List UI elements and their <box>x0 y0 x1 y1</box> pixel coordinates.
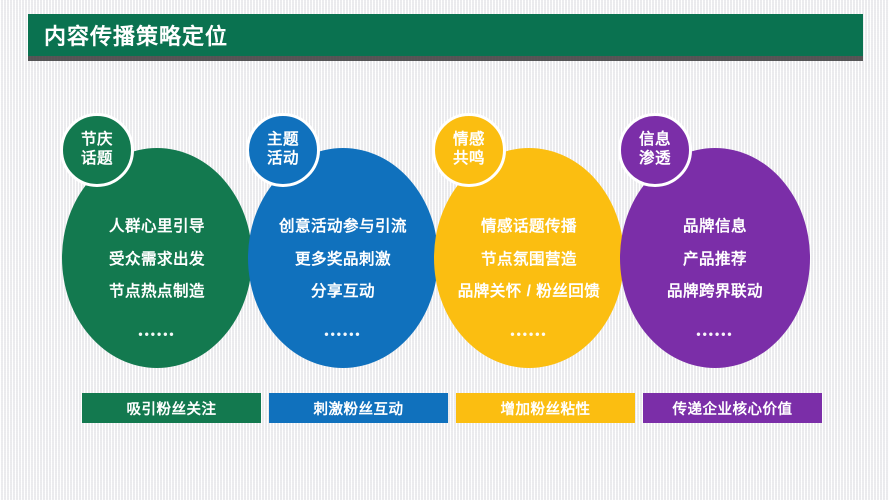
title-bar: 内容传播策略定位 <box>28 14 863 56</box>
big-ellipse-line: 人群心里引导 <box>109 219 205 235</box>
big-ellipse-line: 节点热点制造 <box>109 284 205 300</box>
outcome-bar-attract-fans[interactable]: 吸引粉丝关注 <box>82 393 261 423</box>
badge-label-line: 渗透 <box>639 150 671 169</box>
big-ellipse-line: 分享互动 <box>311 284 375 300</box>
title-bar-shadow <box>28 56 863 61</box>
page-title: 内容传播策略定位 <box>44 19 228 51</box>
big-ellipse-line: 品牌跨界联动 <box>667 284 763 300</box>
badge-circle-festival-topic[interactable]: 节庆 话题 <box>60 113 134 187</box>
outcome-bar-increase-stickiness[interactable]: 增加粉丝粘性 <box>456 393 635 423</box>
badge-circle-information-penetration[interactable]: 信息 渗透 <box>618 113 692 187</box>
big-ellipse-line: 情感话题传播 <box>481 219 577 235</box>
ellipsis-dots: •••••• <box>324 327 361 341</box>
badge-label-line: 节庆 <box>81 131 113 150</box>
outcome-bar-deliver-core-value[interactable]: 传递企业核心价值 <box>643 393 822 423</box>
big-ellipse-line: 节点氛围营造 <box>481 252 577 268</box>
badge-label-line: 活动 <box>267 150 299 169</box>
badge-circle-emotional-resonance[interactable]: 情感 共鸣 <box>432 113 506 187</box>
big-ellipse-line: 创意活动参与引流 <box>279 219 407 235</box>
badge-circle-theme-activity[interactable]: 主题 活动 <box>246 113 320 187</box>
ellipsis-dots: •••••• <box>510 327 547 341</box>
big-ellipse-text-festival-topic: 人群心里引导 受众需求出发 节点热点制造 •••••• <box>62 175 252 341</box>
outcome-bar-row: 吸引粉丝关注 刺激粉丝互动 增加粉丝粘性 传递企业核心价值 <box>82 393 822 423</box>
outcome-bar-stimulate-interaction[interactable]: 刺激粉丝互动 <box>269 393 448 423</box>
big-ellipse-text-emotional-resonance: 情感话题传播 节点氛围营造 品牌关怀 / 粉丝回馈 •••••• <box>434 175 624 341</box>
slide-canvas: 内容传播策略定位 人群心里引导 受众需求出发 节点热点制造 •••••• 节庆 … <box>0 0 889 500</box>
badge-label-line: 话题 <box>81 150 113 169</box>
big-ellipse-line: 更多奖品刺激 <box>295 252 391 268</box>
big-ellipse-line: 受众需求出发 <box>109 252 205 268</box>
big-ellipse-line: 产品推荐 <box>683 252 747 268</box>
ellipsis-dots: •••••• <box>138 327 175 341</box>
big-ellipse-line: 品牌关怀 / 粉丝回馈 <box>458 284 600 300</box>
big-ellipse-text-theme-activity: 创意活动参与引流 更多奖品刺激 分享互动 •••••• <box>248 175 438 341</box>
badge-label-line: 共鸣 <box>453 150 485 169</box>
big-ellipse-line: 品牌信息 <box>683 219 747 235</box>
badge-label-line: 信息 <box>639 131 671 150</box>
badge-label-line: 主题 <box>267 131 299 150</box>
badge-label-line: 情感 <box>453 131 485 150</box>
ellipsis-dots: •••••• <box>696 327 733 341</box>
big-ellipse-text-information-penetration: 品牌信息 产品推荐 品牌跨界联动 •••••• <box>620 175 810 341</box>
